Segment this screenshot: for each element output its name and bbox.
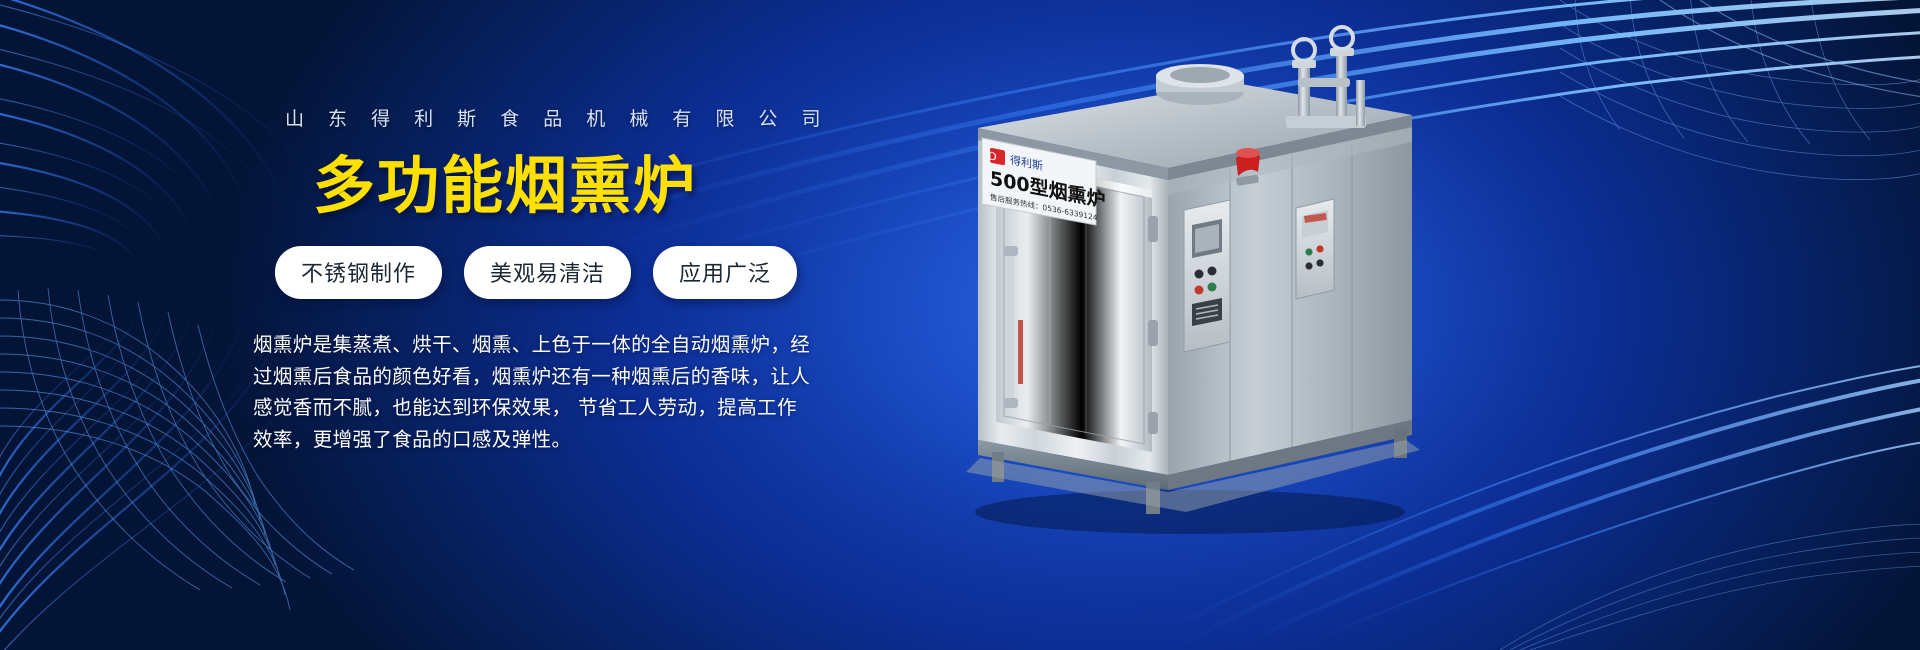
product-description: 烟熏炉是集蒸煮、烘干、烟熏、上色于一体的全自动烟熏炉，经过烟熏后食品的颜色好看，… (243, 329, 813, 455)
feature-pill-label: 不锈钢制作 (301, 262, 416, 287)
feature-pill-list: 不锈钢制作 美观易清洁 应用广泛 (243, 246, 843, 299)
page-title: 多功能烟熏炉 (243, 153, 843, 220)
feature-pill-wide-use[interactable]: 应用广泛 (653, 246, 797, 299)
product-photo-smokehouse-oven: D 得利斯 500型烟熏炉 售后服务热线：0536-6339124 (900, 20, 1460, 550)
company-name: 山 东 得 利 斯 食 品 机 械 有 限 公 司 (243, 104, 843, 131)
feature-pill-easy-clean[interactable]: 美观易清洁 (464, 246, 631, 299)
feature-pill-stainless[interactable]: 不锈钢制作 (275, 246, 442, 299)
feature-pill-label: 美观易清洁 (490, 262, 605, 287)
promo-banner: 山 东 得 利 斯 食 品 机 械 有 限 公 司 多功能烟熏炉 不锈钢制作 美… (0, 0, 1920, 650)
feature-pill-label: 应用广泛 (679, 262, 771, 287)
alarm-beacon-icon (1236, 148, 1260, 186)
banner-text-block: 山 东 得 利 斯 食 品 机 械 有 限 公 司 多功能烟熏炉 不锈钢制作 美… (243, 104, 843, 455)
svg-text:D: D (988, 149, 996, 164)
